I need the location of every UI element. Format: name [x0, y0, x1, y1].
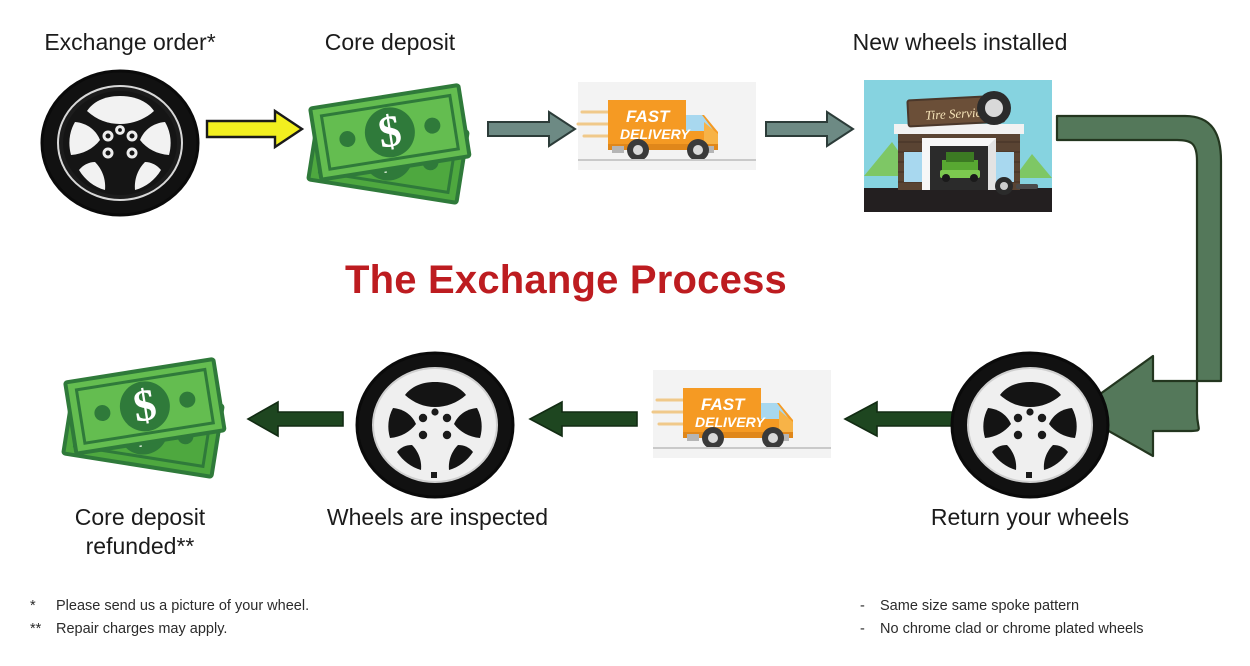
money-icon-core-deposit: $ $ — [303, 78, 481, 208]
label-core-deposit: Core deposit — [285, 28, 495, 57]
truck-text-fast: FAST — [701, 395, 746, 414]
tire-service-shop-icon: Tire Service — [864, 80, 1052, 212]
arrow-right-teal-1 — [487, 110, 577, 148]
money-icon-refund: $ $ — [58, 352, 236, 482]
arrow-left-dark-green-2 — [528, 400, 638, 438]
footnote-left-1: * Please send us a picture of your wheel… — [30, 595, 309, 618]
footnotes-right: - Same size same spoke pattern - No chro… — [860, 595, 1144, 642]
page-title: The Exchange Process — [345, 258, 787, 303]
footnote-marker: * — [30, 595, 56, 618]
label-wheels-inspected: Wheels are inspected — [295, 503, 580, 532]
wheel-icon-return — [950, 352, 1110, 498]
label-new-wheels-installed: New wheels installed — [800, 28, 1120, 57]
footnote-text: No chrome clad or chrome plated wheels — [880, 618, 1144, 641]
arrow-right-teal-2 — [765, 110, 855, 148]
arrow-left-dark-green-3 — [843, 400, 953, 438]
footnote-left-2: ** Repair charges may apply. — [30, 618, 309, 641]
footnote-marker: - — [860, 618, 880, 641]
footnote-right-2: - No chrome clad or chrome plated wheels — [860, 618, 1144, 641]
delivery-truck-icon-outbound: FAST DELIVERY — [578, 82, 756, 170]
wheel-icon-inspected — [355, 352, 515, 498]
footnote-text: Same size same spoke pattern — [880, 595, 1079, 618]
truck-text-delivery: DELIVERY — [620, 126, 691, 142]
label-exchange-order: Exchange order* — [10, 28, 250, 57]
footnote-marker: - — [860, 595, 880, 618]
arrow-left-dark-green-1 — [246, 400, 344, 438]
footnote-right-1: - Same size same spoke pattern — [860, 595, 1144, 618]
exchange-process-diagram: Exchange order* Core deposit New wheels … — [0, 0, 1250, 666]
truck-text-delivery: DELIVERY — [695, 414, 766, 430]
footnotes-left: * Please send us a picture of your wheel… — [30, 595, 309, 642]
arrow-right-yellow — [205, 108, 305, 150]
label-return-your-wheels: Return your wheels — [890, 503, 1170, 532]
label-core-deposit-refunded: Core deposit refunded** — [25, 503, 255, 562]
wheel-icon-exchange-order — [40, 70, 200, 216]
delivery-truck-icon-inbound: FAST DELIVERY — [653, 370, 831, 458]
truck-text-fast: FAST — [626, 107, 671, 126]
footnote-marker: ** — [30, 618, 56, 641]
footnote-text: Please send us a picture of your wheel. — [56, 595, 309, 618]
footnote-text: Repair charges may apply. — [56, 618, 227, 641]
